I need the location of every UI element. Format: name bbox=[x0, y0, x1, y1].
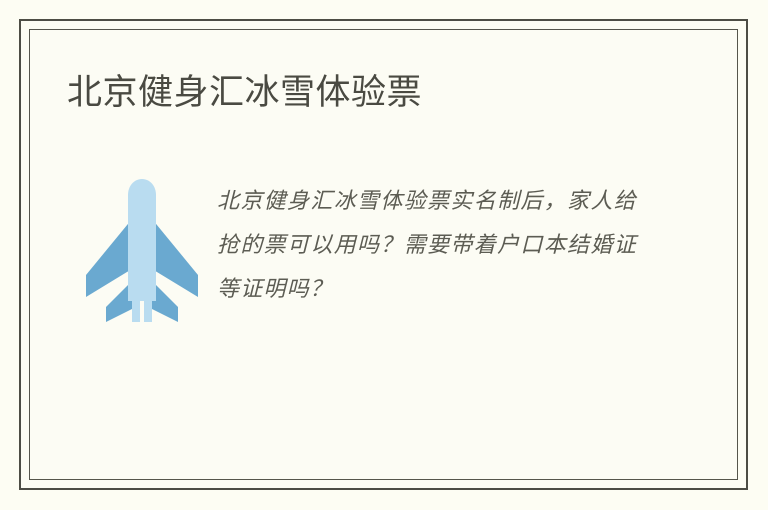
article-paragraph: 北京健身汇冰雪体验票实名制后，家人给抢的票可以用吗？需要带着户口本结婚证等证明吗… bbox=[217, 171, 637, 311]
airplane-icon bbox=[76, 177, 208, 327]
article-body: 北京健身汇冰雪体验票实名制后，家人给抢的票可以用吗？需要带着户口本结婚证等证明吗… bbox=[67, 171, 706, 327]
airplane-illustration bbox=[67, 171, 217, 327]
page-title: 北京健身汇冰雪体验票 bbox=[67, 70, 422, 116]
article-card: 北京健身汇冰雪体验票 北京健身汇冰雪体验票实名制后，家人给抢的票可以用吗？需要带… bbox=[19, 19, 748, 490]
